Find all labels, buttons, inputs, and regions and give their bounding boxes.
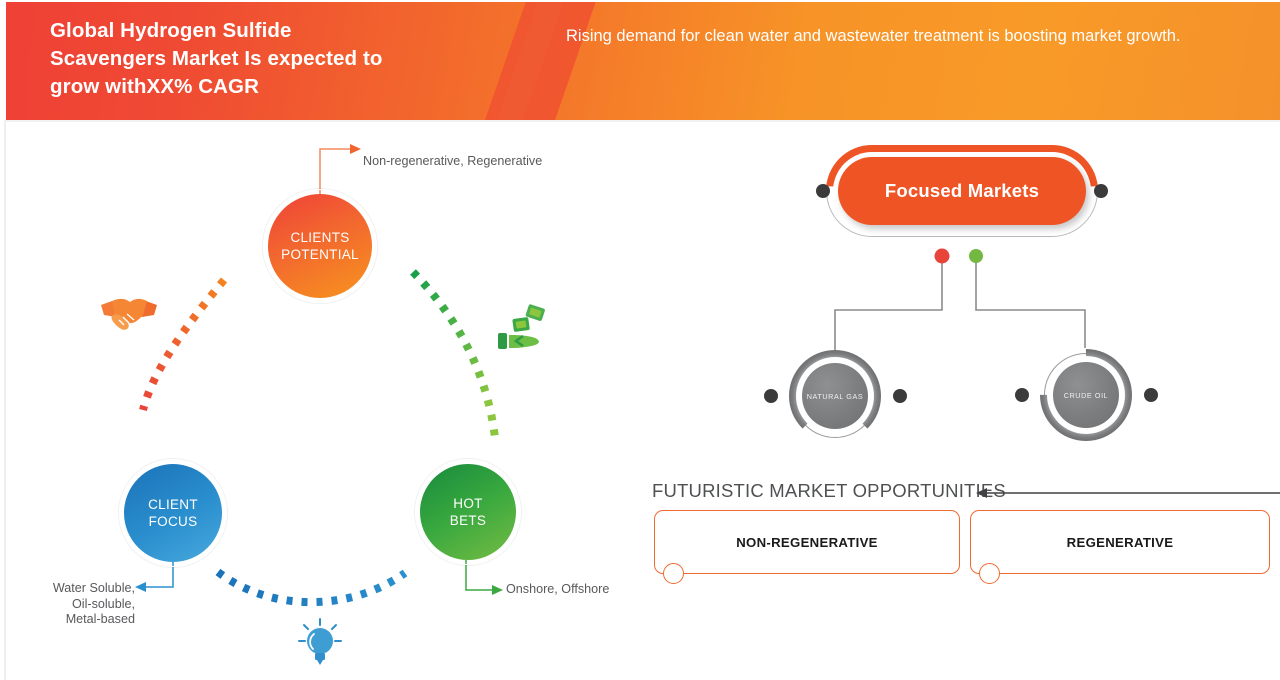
- futuristic-opportunities-title: FUTURISTIC MARKET OPPORTUNITIES: [652, 480, 1006, 502]
- arrowhead-focus-icon: [135, 582, 146, 592]
- hub-label: Focused Markets: [885, 180, 1039, 202]
- opportunity-box-regenerative-label: REGENERATIVE: [1067, 535, 1174, 550]
- node-client-focus-label: CLIENT FOCUS: [148, 496, 198, 530]
- callout-clients-potential: Non-regenerative, Regenerative: [363, 154, 542, 170]
- leader-line-focus: [146, 562, 173, 587]
- arrowhead-clients-icon: [350, 144, 361, 154]
- callout-client-focus: Water Soluble, Oil-soluble, Metal-based: [20, 581, 135, 628]
- opportunity-box-regenerative[interactable]: REGENERATIVE: [970, 510, 1270, 574]
- connector-to-crude-oil: [976, 262, 1085, 348]
- node-hot-bets[interactable]: HOT BETS: [420, 464, 516, 560]
- red-dot: [935, 249, 950, 264]
- opt-box-nub: [663, 563, 684, 584]
- hub-dot-right: [1094, 184, 1108, 198]
- market-circle-natural-gas[interactable]: NATURAL GAS: [789, 350, 881, 442]
- lightbulb-icon: [295, 617, 345, 669]
- node-clients-potential-label: CLIENTS POTENTIAL: [281, 229, 359, 263]
- market-circle-crude-oil[interactable]: CRUDE OIL: [1040, 349, 1132, 441]
- focused-markets-hub[interactable]: Focused Markets: [816, 145, 1108, 245]
- gc-core: NATURAL GAS: [802, 363, 868, 429]
- header-banner: Global Hydrogen Sulfide Scavengers Marke…: [6, 2, 1280, 120]
- arrowhead-icon: [976, 488, 987, 498]
- market-circle-natural-gas-label: NATURAL GAS: [807, 392, 864, 401]
- crude-oil-dot-right: [1144, 388, 1158, 402]
- opt-box-nub: [979, 563, 1000, 584]
- infographic-canvas: Global Hydrogen Sulfide Scavengers Marke…: [0, 0, 1280, 680]
- opportunities-arrow: [970, 482, 1280, 504]
- hub-dot-left: [816, 184, 830, 198]
- gc-core: CRUDE OIL: [1053, 362, 1119, 428]
- green-dot: [969, 249, 983, 263]
- opportunity-box-non-regenerative-label: NON-REGENERATIVE: [736, 535, 878, 550]
- arrowhead-hot-icon: [492, 585, 503, 595]
- market-circle-crude-oil-label: CRUDE OIL: [1064, 391, 1109, 400]
- banner-left-accent: [6, 2, 26, 120]
- node-clients-potential[interactable]: CLIENTS POTENTIAL: [268, 194, 372, 298]
- leader-line-hot: [466, 560, 492, 590]
- banner-subtitle: Rising demand for clean water and wastew…: [566, 24, 1206, 49]
- hub-pill[interactable]: Focused Markets: [838, 157, 1086, 225]
- connector-to-natural-gas: [835, 262, 942, 353]
- handshake-icon: [99, 289, 159, 337]
- callout-hot-bets: Onshore, Offshore: [506, 582, 609, 598]
- leader-line-clients: [320, 149, 350, 195]
- money-in-hand-icon: [497, 302, 549, 354]
- node-hot-bets-label: HOT BETS: [450, 495, 486, 529]
- crude-oil-dot-left: [1015, 388, 1029, 402]
- node-client-focus[interactable]: CLIENT FOCUS: [124, 464, 222, 562]
- banner-title: Global Hydrogen Sulfide Scavengers Marke…: [50, 17, 520, 101]
- natural-gas-dot-left: [764, 389, 778, 403]
- opportunity-box-non-regenerative[interactable]: NON-REGENERATIVE: [654, 510, 960, 574]
- natural-gas-dot-right: [893, 389, 907, 403]
